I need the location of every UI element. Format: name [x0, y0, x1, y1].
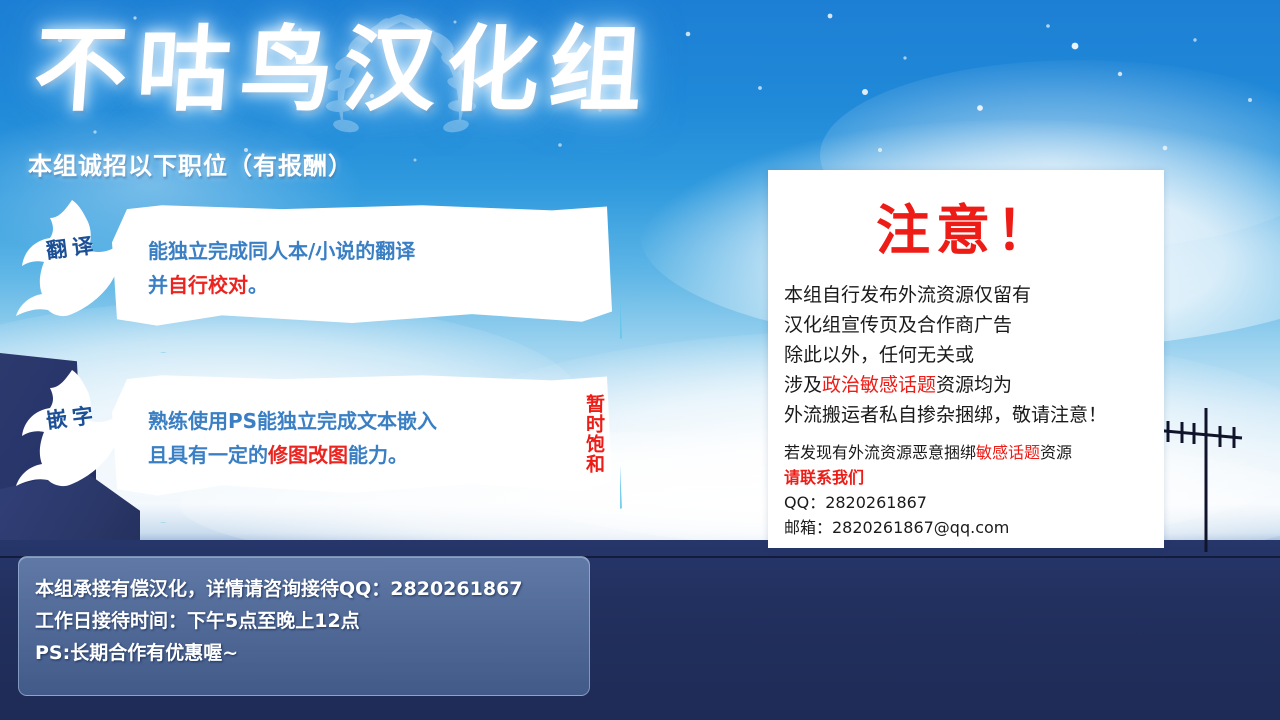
contact-email[interactable]: 邮箱：2820261867@qq.com: [784, 515, 1156, 540]
notice-body-line-1: 本组自行发布外流资源仅留有: [784, 280, 1152, 310]
notice-small-post: 资源: [1040, 443, 1072, 462]
notice-line4-highlight: 政治敏感话题: [822, 374, 936, 396]
role-ribbon: 熟练使用PS能独立完成文本嵌入 且具有一定的修图改图能力。 暂时饱和: [112, 374, 612, 502]
role-ribbon: 能独立完成同人本/小说的翻译 并自行校对。: [112, 204, 612, 332]
notice-small-pre: 若发现有外流资源恶意捆绑: [784, 443, 976, 462]
role-req-line2-highlight: 自行校对: [168, 273, 248, 297]
page-subtitle: 本组诚招以下职位（有报酬）: [28, 146, 353, 181]
contact-us-label: 请联系我们: [784, 465, 1156, 490]
notice-card: 注意！ 本组自行发布外流资源仅留有 汉化组宣传页及合作商广告 除此以外，任何无关…: [768, 170, 1164, 548]
role-requirements: 熟练使用PS能独立完成文本嵌入 且具有一定的修图改图能力。: [148, 404, 588, 472]
poster-canvas: 不咕鸟汉化组 本组诚招以下职位（有报酬） 翻译 能独立完成同人本/小说的翻译 并…: [0, 0, 1280, 720]
notice-line4-pre: 涉及: [784, 374, 822, 396]
service-info-line-3: PS:长期合作有优惠喔~: [35, 637, 581, 669]
notice-small-line-1: 若发现有外流资源恶意捆绑敏感话题资源: [784, 440, 1156, 465]
role-req-line2-pre: 且具有一定的: [148, 443, 268, 467]
contact-qq[interactable]: QQ：2820261867: [784, 490, 1156, 515]
service-info-line-1: 本组承接有偿汉化，详情请咨询接待QQ：2820261867: [35, 573, 581, 605]
notice-title: 注意！: [768, 186, 1164, 265]
notice-body-line-3: 除此以外，任何无关或: [784, 340, 1152, 370]
role-req-line2-post: 。: [248, 273, 268, 297]
role-req-line2-pre: 并: [148, 273, 168, 297]
notice-body-line-4: 涉及政治敏感话题资源均为: [784, 370, 1152, 400]
notice-contact-block: 若发现有外流资源恶意捆绑敏感话题资源 请联系我们 QQ：2820261867 邮…: [784, 440, 1156, 540]
notice-body: 本组自行发布外流资源仅留有 汉化组宣传页及合作商广告 除此以外，任何无关或 涉及…: [784, 280, 1152, 430]
notice-small-highlight: 敏感话题: [976, 443, 1040, 462]
service-info-line-2: 工作日接待时间：下午5点至晚上12点: [35, 605, 581, 637]
role-req-line2-post: 能力。: [348, 443, 408, 467]
notice-body-line-2: 汉化组宣传页及合作商广告: [784, 310, 1152, 340]
service-info-box: 本组承接有偿汉化，详情请咨询接待QQ：2820261867 工作日接待时间：下午…: [18, 556, 590, 696]
service-info-text: 本组承接有偿汉化，详情请咨询接待QQ：2820261867 工作日接待时间：下午…: [35, 573, 581, 669]
status-badge-saturated: 暂时饱和: [578, 394, 604, 474]
role-req-line1: 熟练使用PS能独立完成文本嵌入: [148, 409, 437, 433]
role-requirements: 能独立完成同人本/小说的翻译 并自行校对。: [148, 234, 588, 302]
notice-line4-post: 资源均为: [936, 374, 1012, 396]
role-req-line2-highlight: 修图改图: [268, 443, 348, 467]
page-title: 不咕鸟汉化组: [29, 10, 778, 140]
role-req-line1: 能独立完成同人本/小说的翻译: [148, 239, 415, 263]
notice-body-line-5: 外流搬运者私自掺杂捆绑，敬请注意！: [784, 400, 1152, 430]
